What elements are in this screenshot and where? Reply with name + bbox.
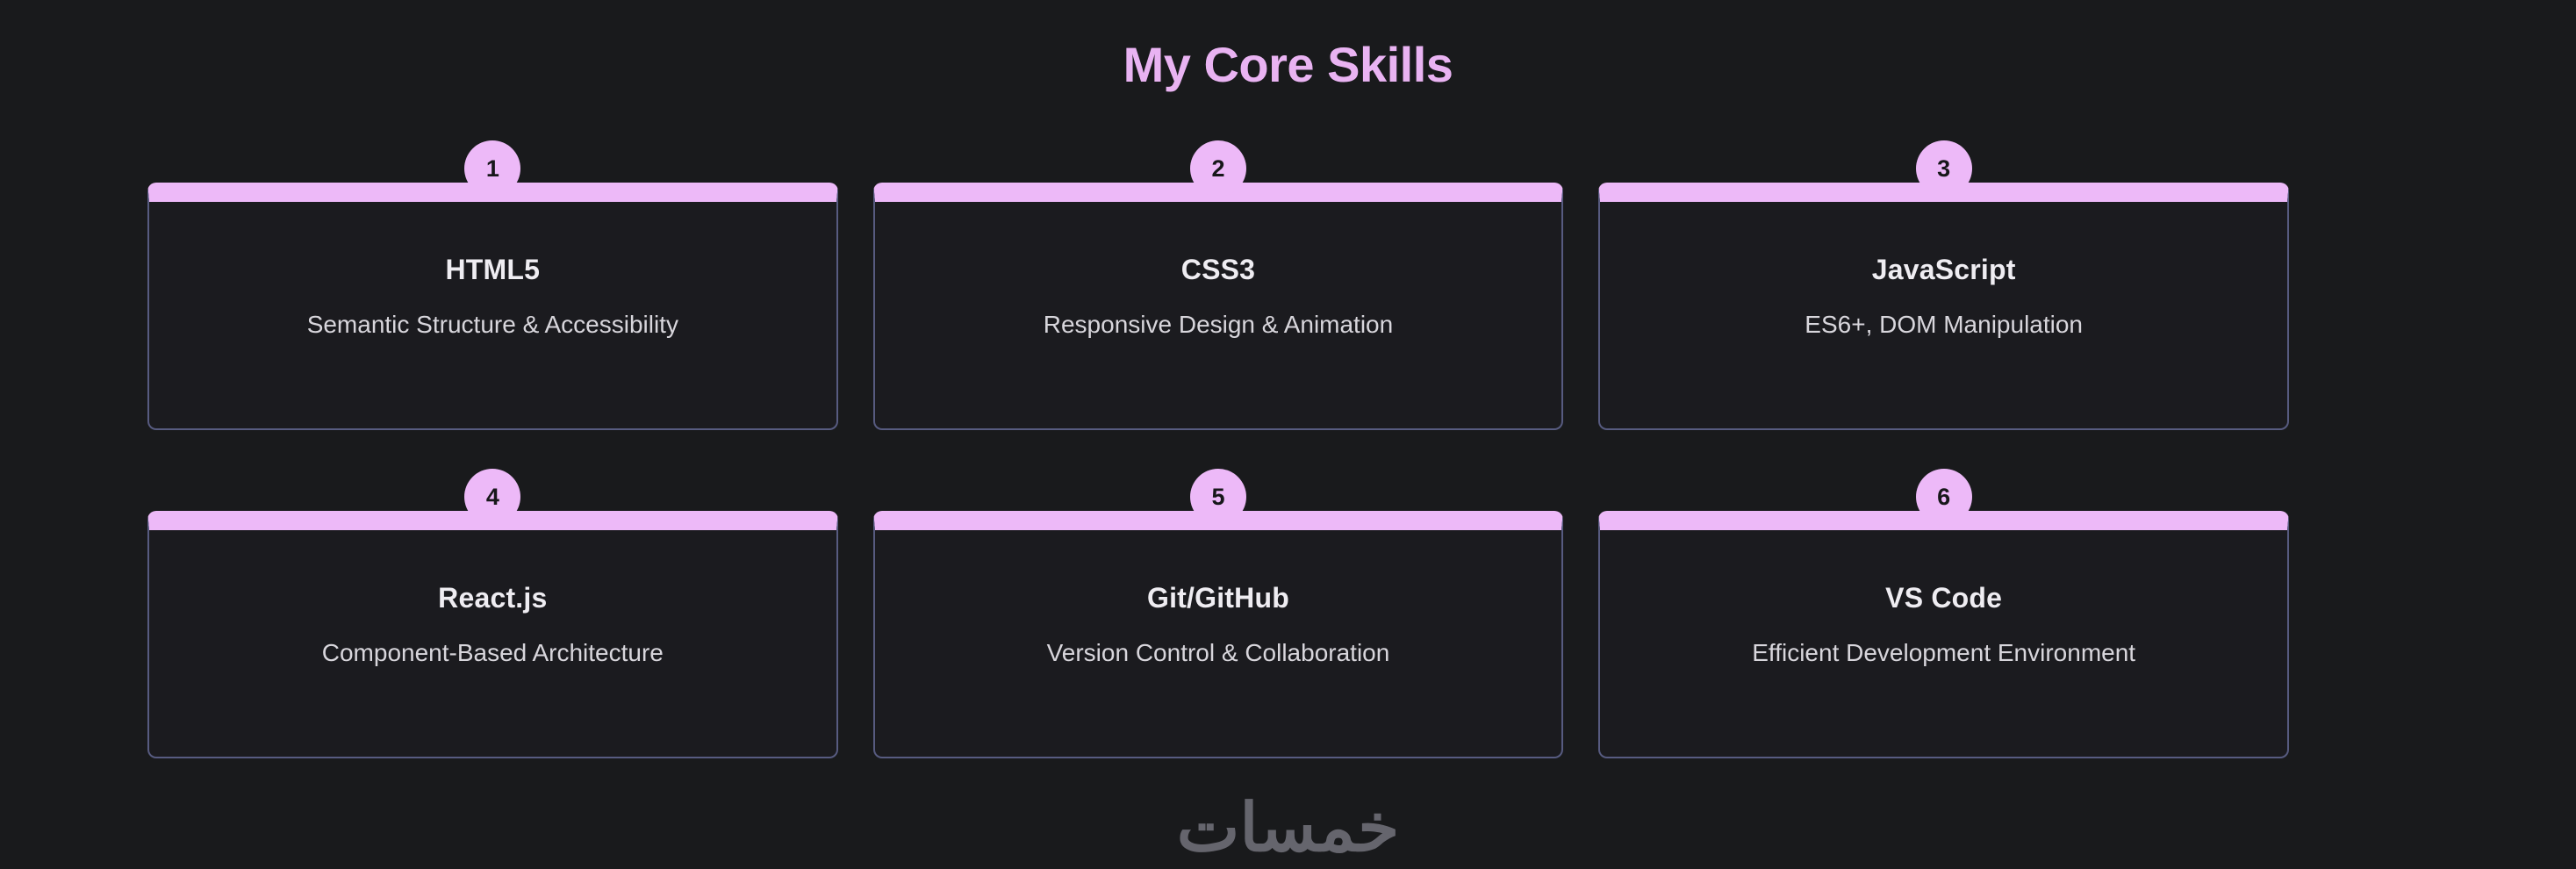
skill-title: HTML5	[446, 253, 541, 286]
skill-card[interactable]: 4 React.js Component-Based Architecture	[147, 511, 838, 758]
skill-number-badge: 1	[464, 140, 520, 197]
skill-card[interactable]: 3 JavaScript ES6+, DOM Manipulation	[1598, 183, 2289, 430]
skill-card[interactable]: 6 VS Code Efficient Development Environm…	[1598, 511, 2289, 758]
skills-section-page: My Core Skills 1 HTML5 Semantic Structur…	[0, 0, 2576, 869]
skill-title: Git/GitHub	[1147, 581, 1289, 614]
skill-number-badge: 6	[1916, 469, 1972, 525]
skill-title: CSS3	[1181, 253, 1255, 286]
skill-description: ES6+, DOM Manipulation	[1805, 309, 2083, 341]
skill-description: Version Control & Collaboration	[1047, 637, 1390, 669]
watermark-khamsat: خمسات	[0, 795, 2576, 862]
skill-title: JavaScript	[1872, 253, 2016, 286]
skill-title: React.js	[438, 581, 547, 614]
skill-card[interactable]: 1 HTML5 Semantic Structure & Accessibili…	[147, 183, 838, 430]
skill-card[interactable]: 2 CSS3 Responsive Design & Animation	[873, 183, 1564, 430]
skill-number-badge: 2	[1190, 140, 1246, 197]
skill-description: Efficient Development Environment	[1752, 637, 2135, 669]
skill-card[interactable]: 5 Git/GitHub Version Control & Collabora…	[873, 511, 1564, 758]
skill-title: VS Code	[1885, 581, 2002, 614]
skill-number-badge: 5	[1190, 469, 1246, 525]
page-title: My Core Skills	[0, 35, 2576, 94]
skill-description: Responsive Design & Animation	[1044, 309, 1393, 341]
skill-description: Component-Based Architecture	[322, 637, 664, 669]
skill-number-badge: 3	[1916, 140, 1972, 197]
skill-description: Semantic Structure & Accessibility	[307, 309, 678, 341]
skill-number-badge: 4	[464, 469, 520, 525]
skills-grid: 1 HTML5 Semantic Structure & Accessibili…	[147, 183, 2289, 758]
